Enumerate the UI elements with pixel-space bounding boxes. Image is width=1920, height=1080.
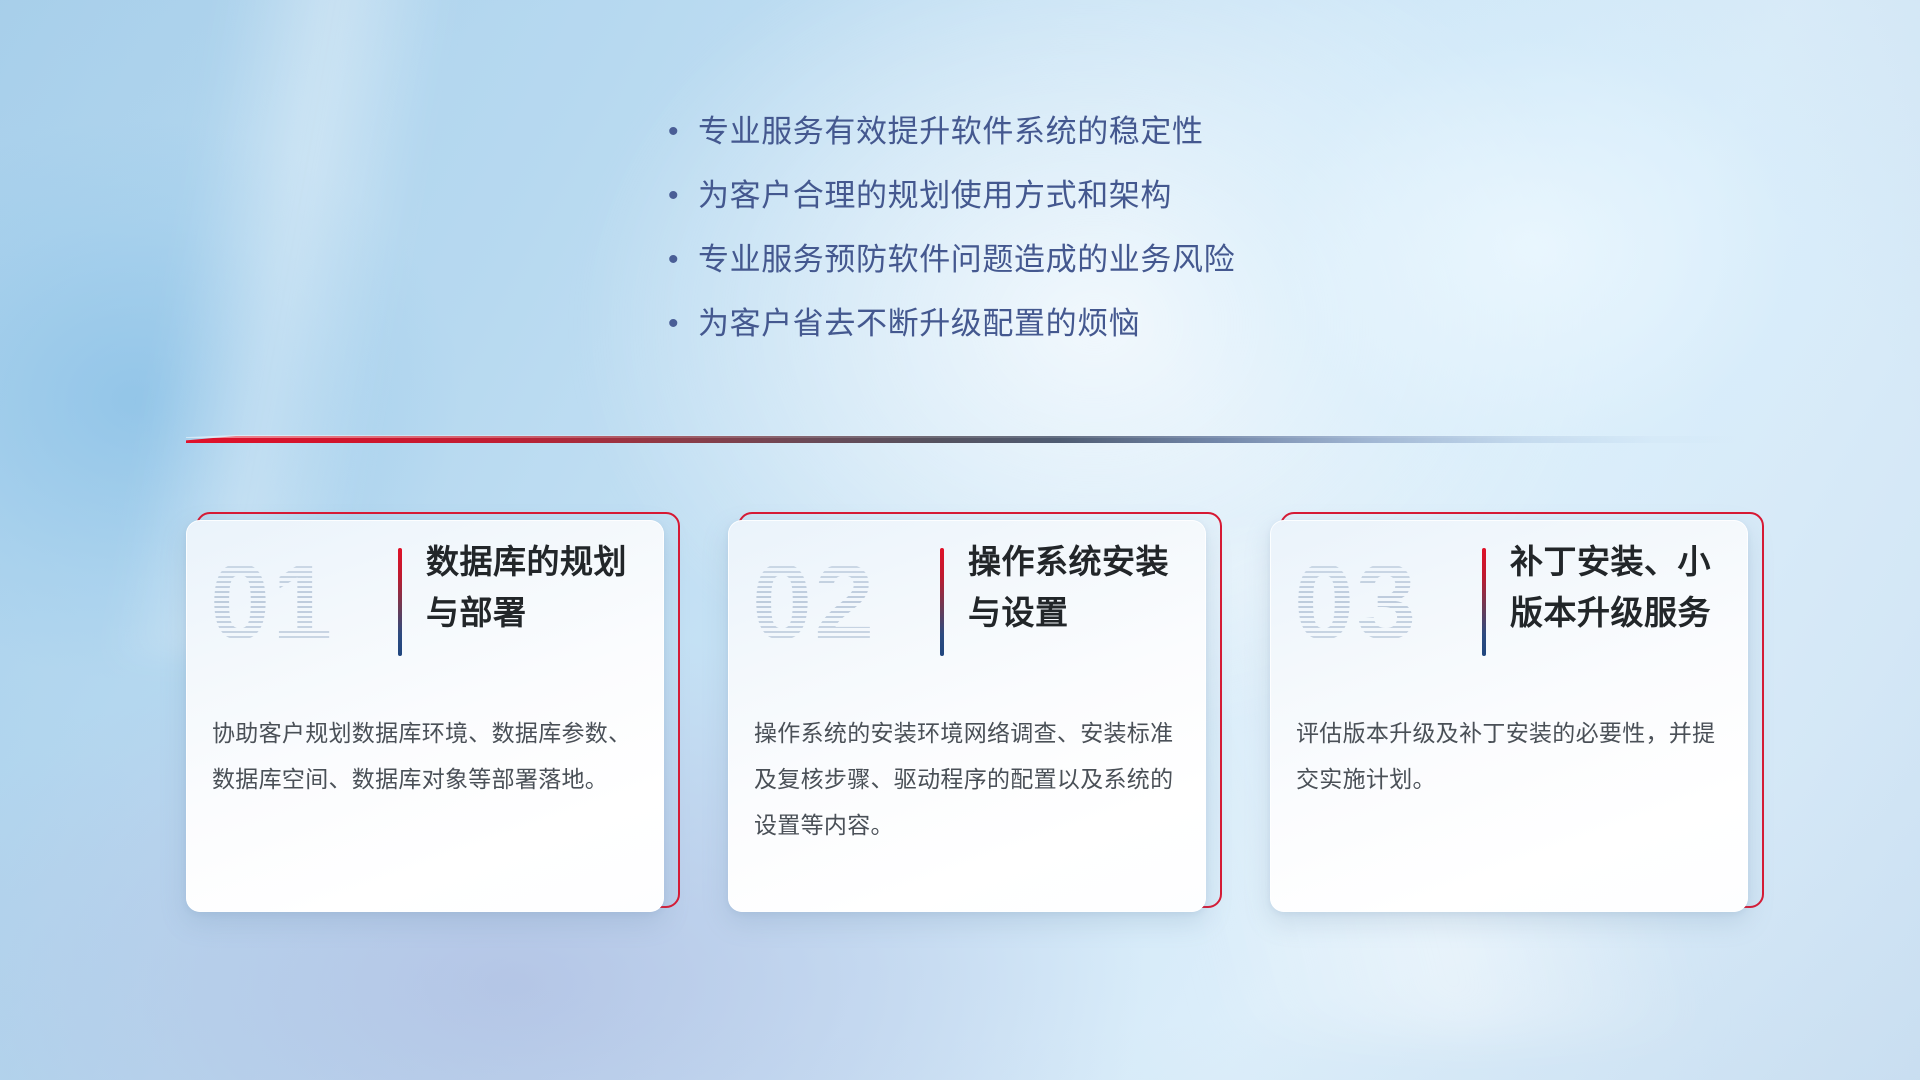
card-number-watermark: 03 [1294,536,1454,668]
list-item: • 为客户省去不断升级配置的烦恼 [668,300,1468,364]
section-divider [186,430,1746,452]
bullet-item-label: 为客户省去不断升级配置的烦恼 [698,300,1140,348]
card-number-watermark: 02 [752,536,912,668]
card-description: 协助客户规划数据库环境、数据库参数、数据库空间、数据库对象等部署落地。 [212,710,636,802]
service-card-03[interactable]: 03 补丁安装、小版本升级服务 评估版本升级及补丁安装的必要性，并提交实施计划。 [1270,520,1754,916]
service-card-list: 01 数据库的规划与部署 协助客户规划数据库环境、数据库参数、数据库空间、数据库… [186,520,1752,920]
bullet-dot-icon: • [668,172,698,220]
card-surface: 02 操作系统安装与设置 操作系统的安装环境网络调查、安装标准及复核步骤、驱动程… [728,520,1206,912]
bullet-dot-icon: • [668,236,698,284]
bullet-item-label: 专业服务预防软件问题造成的业务风险 [698,236,1235,284]
card-title: 数据库的规划与部署 [426,536,652,638]
card-header: 03 补丁安装、小版本升级服务 [1270,536,1748,678]
benefits-bullet-list: • 专业服务有效提升软件系统的稳定性 • 为客户合理的规划使用方式和架构 • 专… [668,108,1468,364]
list-item: • 专业服务预防软件问题造成的业务风险 [668,236,1468,300]
card-accent-rule [1482,548,1486,656]
card-title: 补丁安装、小版本升级服务 [1510,536,1736,638]
card-description: 操作系统的安装环境网络调查、安装标准及复核步骤、驱动程序的配置以及系统的设置等内… [754,710,1178,848]
list-item: • 为客户合理的规划使用方式和架构 [668,172,1468,236]
card-title: 操作系统安装与设置 [968,536,1194,638]
bullet-dot-icon: • [668,300,698,348]
bullet-item-label: 为客户合理的规划使用方式和架构 [698,172,1172,220]
bullet-dot-icon: • [668,108,698,156]
card-accent-rule [398,548,402,656]
card-header: 01 数据库的规划与部署 [186,536,664,678]
card-surface: 01 数据库的规划与部署 协助客户规划数据库环境、数据库参数、数据库空间、数据库… [186,520,664,912]
divider-highlight [186,435,1746,438]
service-card-01[interactable]: 01 数据库的规划与部署 协助客户规划数据库环境、数据库参数、数据库空间、数据库… [186,520,670,916]
card-header: 02 操作系统安装与设置 [728,536,1206,678]
list-item: • 专业服务有效提升软件系统的稳定性 [668,108,1468,172]
service-card-02[interactable]: 02 操作系统安装与设置 操作系统的安装环境网络调查、安装标准及复核步骤、驱动程… [728,520,1212,916]
card-accent-rule [940,548,944,656]
card-surface: 03 补丁安装、小版本升级服务 评估版本升级及补丁安装的必要性，并提交实施计划。 [1270,520,1748,912]
card-number-watermark: 01 [210,536,370,668]
bullet-item-label: 专业服务有效提升软件系统的稳定性 [698,108,1204,156]
card-description: 评估版本升级及补丁安装的必要性，并提交实施计划。 [1296,710,1720,802]
